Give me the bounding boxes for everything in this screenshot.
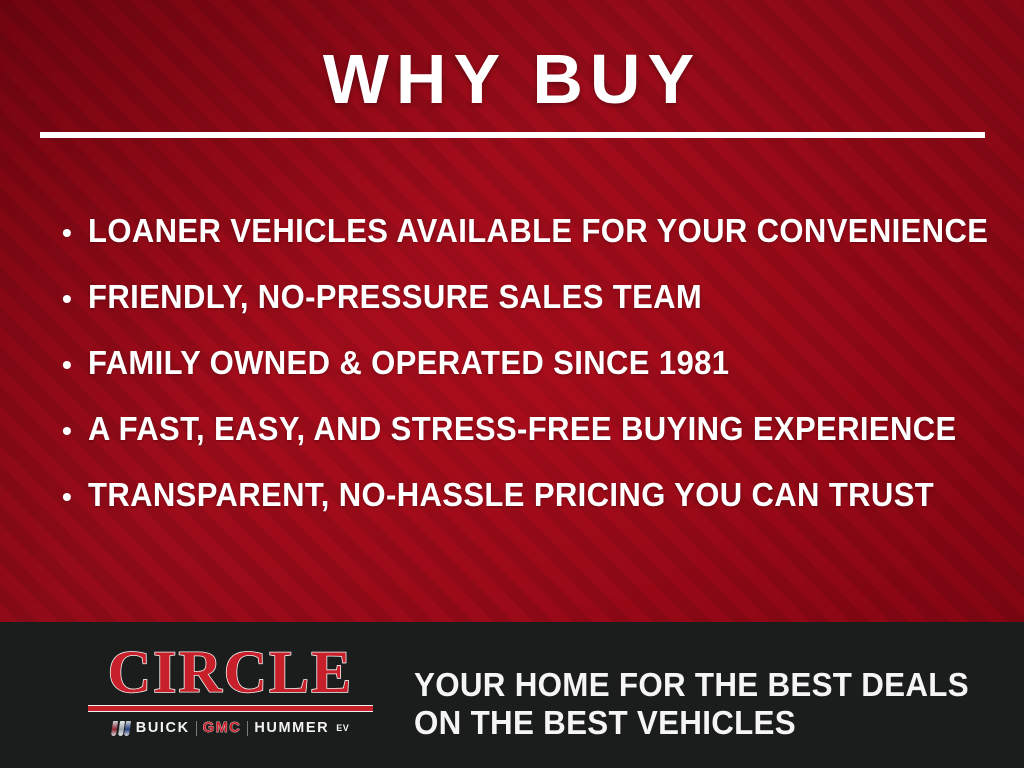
benefits-list: • LOANER VEHICLES AVAILABLE FOR YOUR CON… (62, 214, 992, 544)
list-item-label: A FAST, EASY, AND STRESS-FREE BUYING EXP… (88, 412, 957, 445)
slide-footer: CIRCLE BUICK GMC HUMMER EV YOUR HOME FOR… (0, 622, 1024, 768)
list-item: • FAMILY OWNED & OPERATED SINCE 1981 (62, 346, 992, 412)
logo-underline-bar (88, 705, 373, 712)
buick-tri-shield-icon (111, 721, 131, 736)
brand-strip: BUICK GMC HUMMER EV (88, 719, 373, 737)
brand-label-gmc: GMC (203, 721, 242, 736)
brand-separator (196, 721, 197, 736)
footer-tagline-line-1: YOUR HOME FOR THE BEST DEALS (414, 666, 969, 704)
title-divider-rule (40, 132, 985, 138)
list-item: • LOANER VEHICLES AVAILABLE FOR YOUR CON… (62, 214, 992, 280)
dealership-logo: CIRCLE BUICK GMC HUMMER EV (88, 642, 373, 737)
bullet-marker-icon: • (62, 285, 88, 313)
why-buy-slide: WHY BUY • LOANER VEHICLES AVAILABLE FOR … (0, 0, 1024, 768)
list-item-label: FRIENDLY, NO-PRESSURE SALES TEAM (88, 280, 702, 313)
brand-label-hummer: HUMMER (254, 721, 329, 736)
list-item-label: TRANSPARENT, NO-HASSLE PRICING YOU CAN T… (88, 478, 934, 511)
footer-tagline: YOUR HOME FOR THE BEST DEALS ON THE BEST… (414, 666, 969, 742)
bullet-marker-icon: • (62, 483, 88, 511)
brand-separator (247, 721, 248, 736)
brand-label-buick: BUICK (136, 721, 190, 736)
list-item: • A FAST, EASY, AND STRESS-FREE BUYING E… (62, 412, 992, 478)
footer-tagline-line-2: ON THE BEST VEHICLES (414, 704, 969, 742)
list-item-label: FAMILY OWNED & OPERATED SINCE 1981 (88, 346, 729, 379)
bullet-marker-icon: • (62, 417, 88, 445)
brand-label-hummer-ev-suffix: EV (336, 723, 349, 733)
bullet-marker-icon: • (62, 219, 88, 247)
list-item: • TRANSPARENT, NO-HASSLE PRICING YOU CAN… (62, 478, 992, 544)
dealership-wordmark: CIRCLE (88, 642, 373, 702)
list-item-label: LOANER VEHICLES AVAILABLE FOR YOUR CONVE… (88, 214, 988, 247)
bullet-marker-icon: • (62, 351, 88, 379)
slide-title: WHY BUY (0, 44, 1024, 114)
list-item: • FRIENDLY, NO-PRESSURE SALES TEAM (62, 280, 992, 346)
